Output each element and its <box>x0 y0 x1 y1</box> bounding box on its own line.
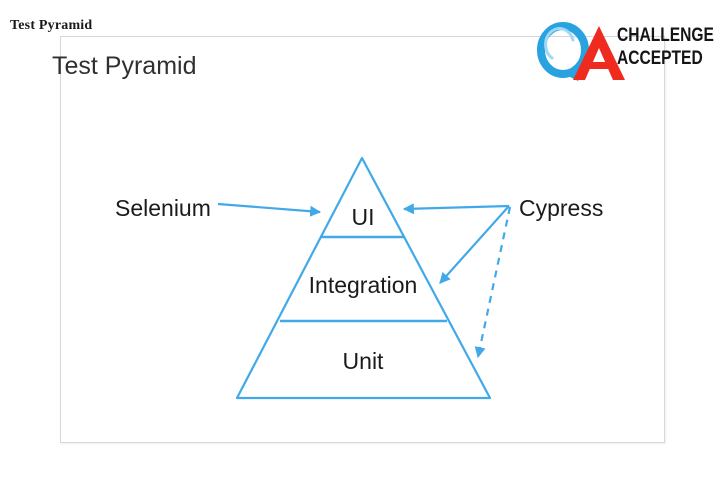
slide-frame <box>60 36 665 443</box>
qa-logo-mark-icon <box>537 22 625 84</box>
annotation-label-cypress: Cypress <box>519 195 603 222</box>
qa-challenge-accepted-logo: CHALLENGE ACCEPTED <box>537 22 705 84</box>
logo-line-challenge: CHALLENGE <box>617 26 691 45</box>
annotation-label-selenium: Selenium <box>115 195 211 222</box>
slide-heading: Test Pyramid <box>52 52 196 81</box>
page-title: Test Pyramid <box>10 18 92 34</box>
pyramid-tier-label-integration: Integration <box>309 272 418 299</box>
logo-wordmark: CHALLENGE ACCEPTED <box>617 26 707 68</box>
logo-line-accepted: ACCEPTED <box>617 49 691 68</box>
pyramid-tier-label-ui: UI <box>352 204 375 231</box>
pyramid-tier-label-unit: Unit <box>343 348 384 375</box>
